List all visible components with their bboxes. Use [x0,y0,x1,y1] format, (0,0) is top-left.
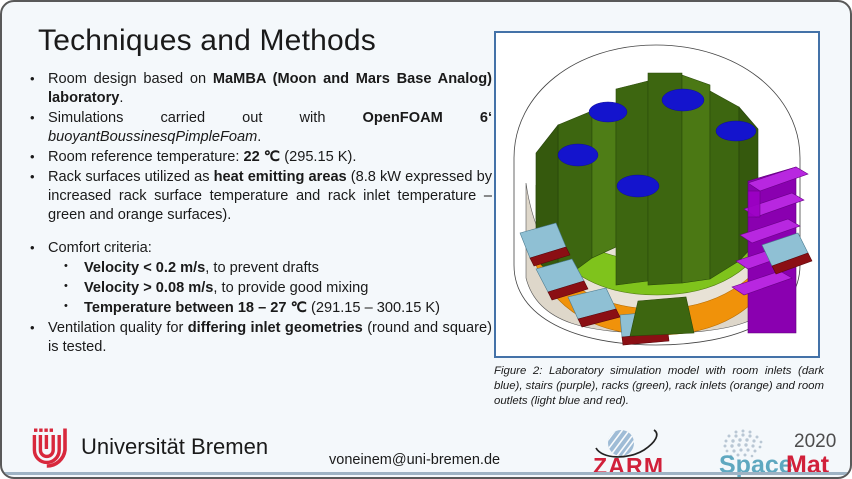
university-name: Universität Bremen [81,434,268,460]
bullet-item: •Room reference temperature: 22 ℃ (295.1… [30,148,492,167]
bullet-text: Simulations carried out with OpenFOAM 6‘… [48,109,492,147]
bullet-item: •Velocity < 0.2 m/s, to prevent drafts [30,259,492,278]
bullet-text: Temperature between 18 – 27 ℃ (291.15 – … [84,299,492,318]
bullet-marker-icon: • [30,319,48,338]
contact-email[interactable]: voneinem@uni-bremen.de [329,452,500,468]
bullet-item: •Simulations carried out with OpenFOAM 6… [30,109,492,147]
simulation-model-diagram [496,33,818,356]
bullet-text: Room design based on MaMBA (Moon and Mar… [48,70,492,108]
figure-caption: Figure 2: Laboratory simulation model wi… [494,364,824,408]
bullet-item: •Temperature between 18 – 27 ℃ (291.15 –… [30,299,492,318]
bullet-text: Ventilation quality for differing inlet … [48,319,492,357]
figure-panel [494,31,820,358]
bullet-item: •Velocity > 0.08 m/s, to provide good mi… [30,279,492,298]
bullet-marker-icon: • [64,299,84,315]
bullet-marker-icon: • [30,168,48,187]
presentation-slide: Techniques and Methods •Room design base… [0,0,852,479]
bullet-item: •Room design based on MaMBA (Moon and Ma… [30,70,492,108]
bullet-text: Room reference temperature: 22 ℃ (295.15… [48,148,492,167]
bullet-marker-icon: • [64,259,84,275]
spacemat-year: 2020 [794,431,836,452]
zarm-wordmark: ZARM [593,453,664,479]
bullet-item: •Ventilation quality for differing inlet… [30,319,492,357]
center-pillar [630,297,694,336]
bullet-marker-icon: • [30,109,48,128]
bullet-text: Rack surfaces utilized as heat emitting … [48,168,492,225]
bullet-item: •Rack surfaces utilized as heat emitting… [30,168,492,225]
page-title: Techniques and Methods [38,24,376,58]
bullet-text: Comfort criteria: [48,239,492,258]
u-logo-icon [30,426,72,468]
footer-divider [2,472,852,475]
bullet-text: Velocity < 0.2 m/s, to prevent drafts [84,259,492,278]
bullet-marker-icon: • [64,279,84,295]
bullet-list: •Room design based on MaMBA (Moon and Ma… [30,70,492,358]
university-bremen-logo: Universität Bremen [30,426,268,468]
bullet-marker-icon: • [30,70,48,89]
bullet-marker-icon: • [30,148,48,167]
bullet-marker-icon: • [30,239,48,258]
bullet-item: •Comfort criteria: [30,239,492,258]
bullet-text: Velocity > 0.08 m/s, to provide good mix… [84,279,492,298]
